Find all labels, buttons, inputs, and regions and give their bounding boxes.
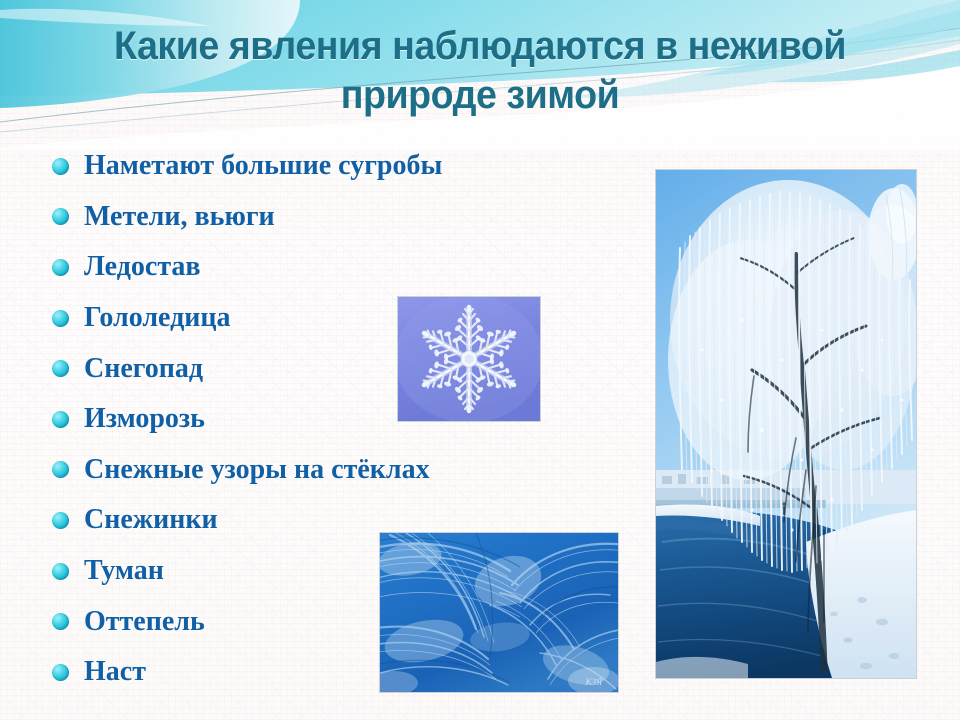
title-line-1: Какие явления наблюдаются в неживой bbox=[29, 22, 931, 71]
list-item: Снежинки bbox=[52, 495, 652, 546]
slide-title: Какие явления наблюдаются в неживой прир… bbox=[0, 22, 960, 120]
bullet-dot-icon bbox=[52, 360, 69, 377]
list-item-label: Туман bbox=[84, 556, 164, 586]
list-item: Метели, вьюги bbox=[52, 192, 652, 243]
list-item-label: Гололедица bbox=[84, 303, 231, 333]
bullet-dot-icon bbox=[52, 411, 69, 428]
bullet-dot-icon bbox=[52, 461, 69, 478]
bullet-dot-icon bbox=[52, 208, 69, 225]
bullet-dot-icon bbox=[52, 613, 69, 630]
list-item: Ледостав bbox=[52, 242, 652, 293]
list-item: Гололедица bbox=[52, 293, 652, 344]
bullet-dot-icon bbox=[52, 563, 69, 580]
bullet-dot-icon bbox=[52, 158, 69, 175]
list-item-label: Снегопад bbox=[84, 354, 203, 384]
bullet-dot-icon bbox=[52, 664, 69, 681]
list-item-label: Снежные узоры на стёклах bbox=[84, 455, 430, 485]
slide: Какие явления наблюдаются в неживой прир… bbox=[0, 0, 960, 720]
list-item-label: Наст bbox=[84, 657, 146, 687]
list-item-label: Изморозь bbox=[84, 404, 205, 434]
list-item: Наст bbox=[52, 647, 652, 698]
list-item-label: Оттепель bbox=[84, 607, 205, 637]
phenomena-list: Наметают большие сугробы Метели, вьюги Л… bbox=[52, 141, 652, 698]
list-item-label: Наметают большие сугробы bbox=[84, 151, 442, 181]
list-item: Наметают большие сугробы bbox=[52, 141, 652, 192]
list-item: Изморозь bbox=[52, 394, 652, 445]
bullet-dot-icon bbox=[52, 512, 69, 529]
list-item-label: Метели, вьюги bbox=[84, 202, 275, 232]
bullet-dot-icon bbox=[52, 310, 69, 327]
list-item-label: Снежинки bbox=[84, 505, 218, 535]
frosted-willow-photo bbox=[656, 170, 916, 678]
list-item: Туман bbox=[52, 546, 652, 597]
list-item: Снежные узоры на стёклах bbox=[52, 445, 652, 496]
list-item: Оттепель bbox=[52, 596, 652, 647]
list-item: Снегопад bbox=[52, 343, 652, 394]
bullet-dot-icon bbox=[52, 259, 69, 276]
title-line-2: природе зимой bbox=[29, 71, 931, 120]
list-item-label: Ледостав bbox=[84, 252, 201, 282]
